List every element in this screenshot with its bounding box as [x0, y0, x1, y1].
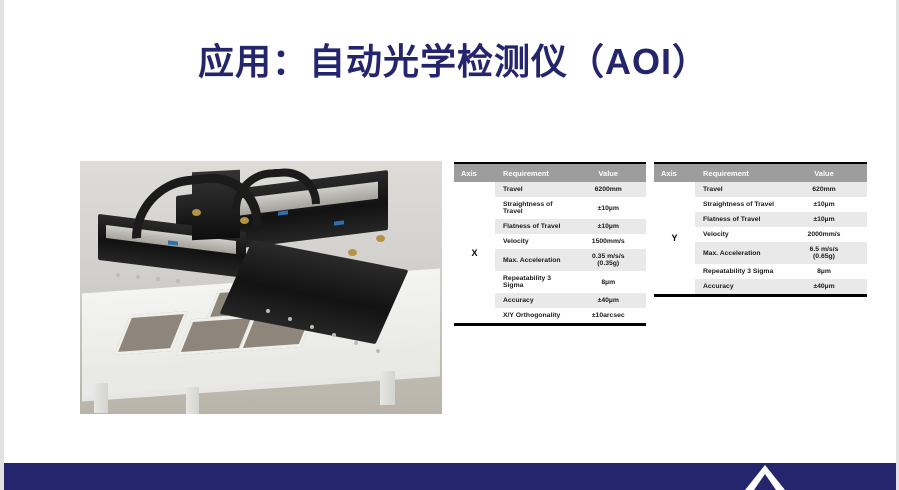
cell-value: ±10µm	[781, 212, 867, 227]
table-body-y: Y Travel 620mm Straightness of Travel ±1…	[654, 182, 867, 296]
header-axis: Axis	[454, 163, 495, 182]
cell-value: ±10µm	[571, 219, 647, 234]
cell-value: ±40µm	[781, 279, 867, 296]
cell-value: 6.5 m/s/s (0.65g)	[781, 242, 867, 264]
cell-requirement: Travel	[695, 182, 781, 197]
photo-brass-fitting	[192, 209, 201, 216]
header-requirement: Requirement	[695, 163, 781, 182]
cell-requirement: Flatness of Travel	[495, 219, 571, 234]
cell-requirement: Velocity	[495, 234, 571, 249]
cell-value-main: 0.35 m/s/s	[575, 253, 643, 260]
axis-label-x: X	[454, 182, 495, 325]
cell-requirement: Repeatability 3 Sigma	[695, 264, 781, 279]
table-body-x: X Travel 6200mm Straightness of Travel ±…	[454, 182, 646, 325]
cell-value: ±10arcsec	[571, 308, 647, 325]
table-row: X Travel 6200mm	[454, 182, 646, 197]
photo-brass-fitting	[348, 249, 357, 256]
cell-value: 8µm	[571, 271, 647, 293]
cell-requirement: Repeatability 3 Sigma	[495, 271, 571, 293]
cell-value-sub: (0.35g)	[575, 260, 643, 267]
spec-table-x-axis: Axis Requirement Value X Travel 6200mm S…	[454, 162, 646, 326]
cell-value: ±40µm	[571, 293, 647, 308]
photo-bolt	[136, 275, 140, 279]
table-header-x: Axis Requirement Value	[454, 163, 646, 182]
photo-brass-fitting	[376, 235, 385, 242]
cell-requirement: Straightness of Travel	[695, 197, 781, 212]
photo-illustration	[80, 161, 442, 414]
axis-label-y: Y	[654, 182, 695, 296]
cell-requirement: Accuracy	[495, 293, 571, 308]
photo-table-leg	[186, 387, 199, 414]
header-requirement: Requirement	[495, 163, 571, 182]
cell-value: 1500mm/s	[571, 234, 647, 249]
header-axis: Axis	[654, 163, 695, 182]
photo-bolt	[310, 325, 314, 329]
aoi-gantry-stage-photo	[80, 161, 442, 414]
cell-requirement: Velocity	[695, 227, 781, 242]
cell-value: 8µm	[781, 264, 867, 279]
spec-table-y-axis: Axis Requirement Value Y Travel 620mm St…	[654, 162, 867, 297]
photo-bolt	[354, 341, 358, 345]
cell-value: 2000mm/s	[781, 227, 867, 242]
cell-requirement: X/Y Orthogonality	[495, 308, 571, 325]
photo-bolt	[156, 277, 160, 281]
photo-table-leg	[380, 371, 395, 405]
photo-table-leg	[94, 383, 108, 413]
cell-requirement: Flatness of Travel	[695, 212, 781, 227]
cell-requirement: Straightness of Travel	[495, 197, 571, 219]
table-header-y: Axis Requirement Value	[654, 163, 867, 182]
cell-value: ±10µm	[571, 197, 647, 219]
photo-bolt	[332, 333, 336, 337]
table-row: Y Travel 620mm	[654, 182, 867, 197]
cell-value: 6200mm	[571, 182, 647, 197]
cell-value: ±10µm	[781, 197, 867, 212]
photo-bolt	[116, 273, 120, 277]
header-value: Value	[571, 163, 647, 182]
cell-value-sub: (0.65g)	[785, 253, 863, 260]
cell-value-main: 6.5 m/s/s	[785, 246, 863, 253]
slide-canvas: 应用：自动光学检测仪（AOI）	[0, 0, 899, 490]
page-title: 应用：自动光学检测仪（AOI）	[4, 40, 899, 83]
cell-requirement: Max. Acceleration	[495, 249, 571, 271]
photo-bolt	[266, 309, 270, 313]
cell-requirement: Max. Acceleration	[695, 242, 781, 264]
cell-value: 620mm	[781, 182, 867, 197]
cell-requirement: Accuracy	[695, 279, 781, 296]
cell-value: 0.35 m/s/s (0.35g)	[571, 249, 647, 271]
table-header-row: Axis Requirement Value	[654, 163, 867, 182]
table-header-row: Axis Requirement Value	[454, 163, 646, 182]
photo-bolt	[376, 349, 380, 353]
photo-bolt	[288, 317, 292, 321]
photo-bolt	[176, 279, 180, 283]
triangle-logo-icon	[743, 463, 787, 490]
cell-requirement: Travel	[495, 182, 571, 197]
photo-brass-fitting	[240, 217, 249, 224]
header-value: Value	[781, 163, 867, 182]
